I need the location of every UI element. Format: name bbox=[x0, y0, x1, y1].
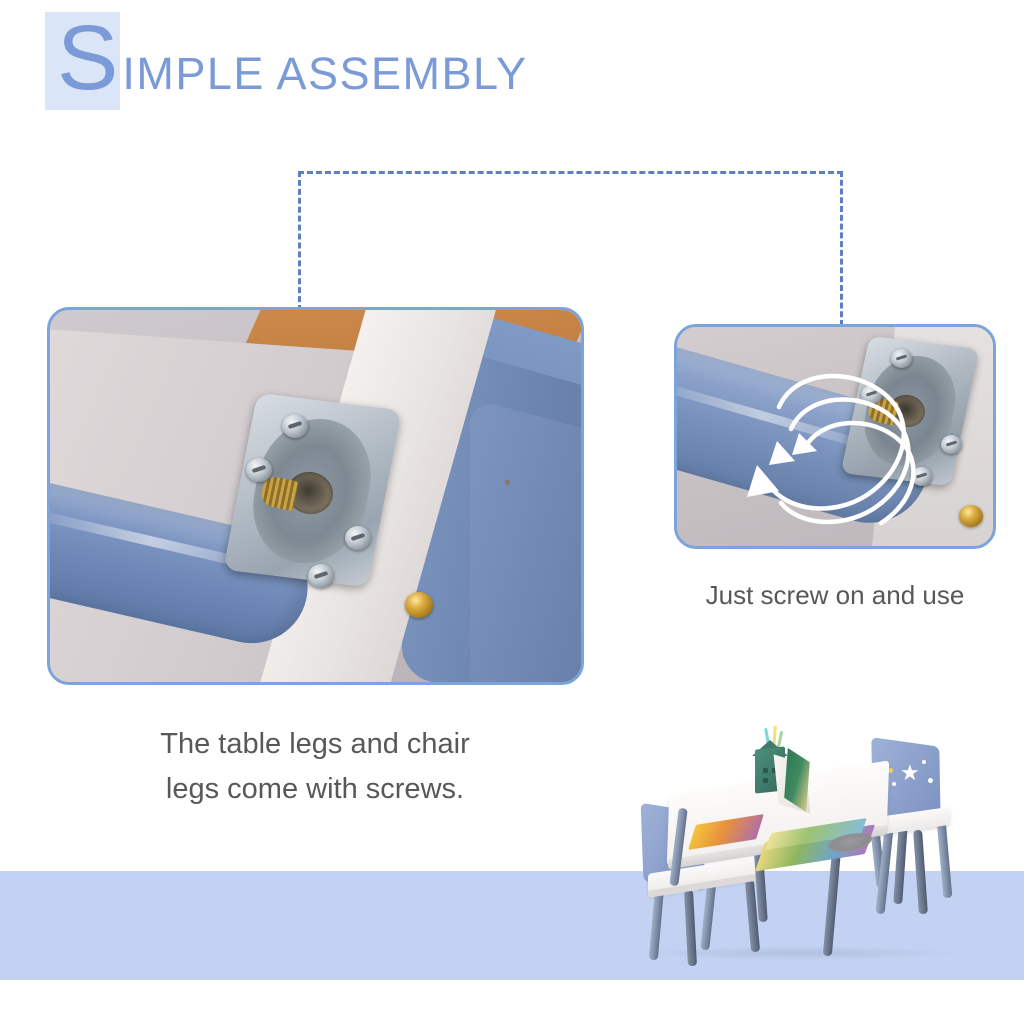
infographic-canvas: S IMPLE ASSEMBLY bbox=[0, 0, 1024, 1024]
house-window bbox=[763, 768, 768, 773]
caption-right: Just screw on and use bbox=[660, 578, 1010, 612]
table-leg-mounting-plate-closeup bbox=[50, 310, 581, 682]
caption-left-line-2: legs come with screws. bbox=[45, 767, 585, 812]
rotation-arrow-icon bbox=[717, 345, 947, 535]
plate-bolt-icon bbox=[246, 458, 272, 482]
blue-side-panel-secondary bbox=[470, 398, 581, 682]
product-scene: ★ bbox=[600, 700, 1024, 990]
house-window bbox=[763, 778, 768, 783]
screw-on-leg-rotation-closeup bbox=[677, 327, 993, 546]
page-title: S IMPLE ASSEMBLY bbox=[45, 12, 528, 112]
caption-left-line-1: The table legs and chair bbox=[45, 722, 585, 767]
dashed-connector-bracket bbox=[298, 171, 843, 326]
plate-bolt-icon bbox=[308, 564, 334, 588]
title-remainder: IMPLE ASSEMBLY bbox=[122, 51, 527, 96]
plate-bolt-icon bbox=[345, 526, 371, 550]
star-icon: ★ bbox=[900, 762, 920, 784]
decor-dot-icon bbox=[928, 778, 933, 783]
connector-right-leg bbox=[840, 171, 843, 326]
photo-panel-right bbox=[674, 324, 996, 549]
caption-left: The table legs and chair legs come with … bbox=[45, 722, 585, 812]
plate-bolt-icon bbox=[282, 414, 308, 438]
brass-screw-icon bbox=[959, 505, 983, 527]
chair-leg bbox=[913, 830, 928, 914]
brass-screw-icon bbox=[405, 592, 433, 618]
photo-panel-left bbox=[47, 307, 584, 685]
title-initial-letter: S bbox=[45, 12, 118, 104]
chair-leg bbox=[893, 824, 908, 904]
chair-leg bbox=[937, 820, 953, 898]
surface-speck bbox=[505, 480, 510, 485]
decor-dot-icon bbox=[922, 760, 926, 764]
decor-dot-icon bbox=[892, 782, 896, 786]
connector-top-line bbox=[298, 171, 843, 174]
connector-left-leg bbox=[298, 171, 301, 311]
